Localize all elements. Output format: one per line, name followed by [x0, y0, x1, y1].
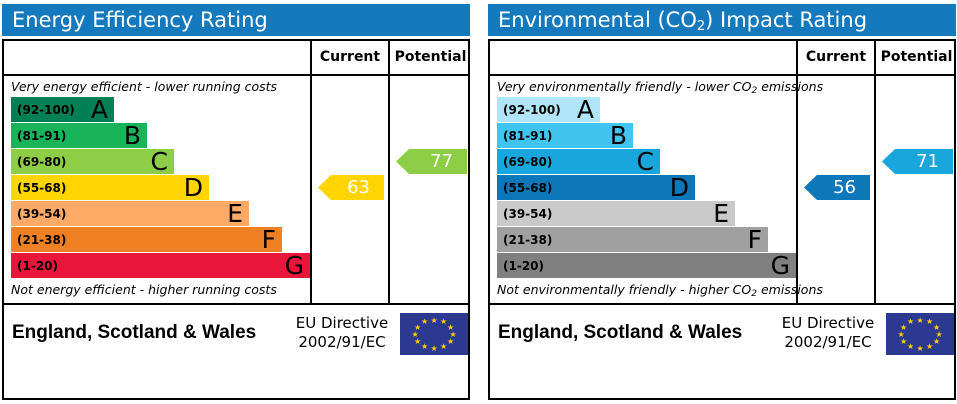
eu-flag-star: ★ — [421, 318, 428, 325]
eu-flag-star: ★ — [900, 324, 907, 331]
footer-directive-label: EU Directive 2002/91/EC — [773, 314, 883, 352]
chart-footer-environmental: England, Scotland & Wales EU Directive 2… — [490, 303, 954, 398]
footer-directive-line1: EU Directive — [287, 314, 397, 333]
energy-efficiency-rating-chart: Energy Efficiency Rating Current Potenti… — [0, 0, 471, 404]
band-range-f: (21-38) — [503, 227, 552, 252]
eu-flag-star: ★ — [440, 343, 447, 350]
caption-top-energy: Very energy efficient - lower running co… — [4, 76, 310, 97]
band-bar-b: (81-91) B — [497, 123, 633, 148]
chart-title-text: Environmental (CO2) Impact Rating — [498, 8, 867, 32]
footer-region-label: England, Scotland & Wales — [498, 305, 742, 360]
potential-rating-arrow-energy: 77 — [396, 149, 467, 174]
band-bar-b: (81-91) B — [11, 123, 147, 148]
band-row: (81-91) B — [4, 123, 310, 149]
band-bar-c: (69-80) C — [497, 149, 660, 174]
footer-region-label: England, Scotland & Wales — [12, 305, 256, 360]
eu-flag-icon: ★★★★★★★★★★★★ — [400, 313, 468, 355]
band-letter-d: D — [184, 173, 203, 200]
band-row: (1-20) G — [4, 253, 310, 279]
band-row: (69-80) C — [490, 149, 796, 175]
chart-footer-energy: England, Scotland & Wales EU Directive 2… — [4, 303, 468, 398]
caption-bottom-environmental: Not environmentally friendly - higher CO… — [490, 279, 796, 300]
header-current: Current — [798, 41, 874, 74]
band-letter-f: F — [262, 225, 276, 252]
band-letter-b: B — [610, 121, 627, 148]
band-letter-g: G — [771, 251, 790, 278]
column-divider-potential — [388, 41, 390, 303]
band-range-a: (92-100) — [503, 97, 561, 122]
chart-title-text: Energy Efficiency Rating — [12, 8, 268, 32]
footer-directive-line2: 2002/91/EC — [287, 333, 397, 352]
eu-flag-star: ★ — [917, 317, 924, 324]
band-range-b: (81-91) — [17, 123, 66, 148]
band-bar-d: (55-68) D — [11, 175, 209, 200]
header-potential: Potential — [876, 41, 957, 74]
chart-title-energy: Energy Efficiency Rating — [2, 4, 470, 36]
band-bar-g: (1-20) G — [11, 253, 310, 278]
eu-flag-star: ★ — [412, 331, 419, 338]
column-divider-current — [310, 41, 312, 303]
chart-frame-environmental: Current Potential Very environmentally f… — [488, 39, 956, 400]
potential-rating-arrow-environmental: 71 — [882, 149, 953, 174]
header-potential: Potential — [390, 41, 471, 74]
eu-flag-star: ★ — [907, 318, 914, 325]
band-letter-c: C — [637, 147, 654, 174]
band-row: (39-54) E — [490, 201, 796, 227]
eu-flag-star: ★ — [440, 318, 447, 325]
band-range-g: (1-20) — [503, 253, 544, 278]
band-range-d: (55-68) — [17, 175, 66, 200]
band-bar-e: (39-54) E — [497, 201, 735, 226]
table-header-row: Current Potential — [4, 41, 468, 76]
band-row: (21-38) F — [490, 227, 796, 253]
eu-flag-star: ★ — [898, 331, 905, 338]
band-row: (21-38) F — [4, 227, 310, 253]
band-bar-g: (1-20) G — [497, 253, 796, 278]
caption-top-environmental: Very environmentally friendly - lower CO… — [490, 76, 796, 97]
band-row: (69-80) C — [4, 149, 310, 175]
band-range-c: (69-80) — [503, 149, 552, 174]
eu-flag-star: ★ — [933, 338, 940, 345]
band-row: (92-100) A — [490, 97, 796, 123]
band-range-a: (92-100) — [17, 97, 75, 122]
band-letter-e: E — [227, 199, 243, 226]
chart-frame-energy: Current Potential Very energy efficient … — [2, 39, 470, 400]
band-row: (39-54) E — [4, 201, 310, 227]
band-bar-c: (69-80) C — [11, 149, 174, 174]
band-bar-d: (55-68) D — [497, 175, 695, 200]
band-list-environmental: (92-100) A (81-91) B (69-80) C — [490, 97, 796, 279]
band-letter-a: A — [91, 95, 108, 122]
eu-flag-star: ★ — [907, 343, 914, 350]
eu-flag-icon: ★★★★★★★★★★★★ — [886, 313, 954, 355]
band-letter-f: F — [748, 225, 762, 252]
band-letter-a: A — [577, 95, 594, 122]
eu-flag-star: ★ — [414, 338, 421, 345]
band-range-b: (81-91) — [503, 123, 552, 148]
band-letter-d: D — [670, 173, 689, 200]
band-row: (55-68) D — [490, 175, 796, 201]
eu-flag-star: ★ — [447, 338, 454, 345]
band-letter-c: C — [151, 147, 168, 174]
eu-flag-star: ★ — [917, 345, 924, 352]
current-rating-arrow-energy: 63 — [318, 175, 384, 200]
band-bar-f: (21-38) F — [11, 227, 282, 252]
band-range-g: (1-20) — [17, 253, 58, 278]
eu-flag-star: ★ — [900, 338, 907, 345]
header-current: Current — [312, 41, 388, 74]
epc-charts-page: Energy Efficiency Rating Current Potenti… — [0, 0, 957, 404]
band-row: (55-68) D — [4, 175, 310, 201]
band-row: (1-20) G — [490, 253, 796, 279]
band-letter-e: E — [713, 199, 729, 226]
band-letter-g: G — [285, 251, 304, 278]
caption-bottom-energy: Not energy efficient - higher running co… — [4, 279, 310, 300]
band-bar-a: (92-100) A — [497, 97, 600, 122]
current-rating-arrow-environmental: 56 — [804, 175, 870, 200]
eu-flag-star: ★ — [926, 343, 933, 350]
band-bar-f: (21-38) F — [497, 227, 768, 252]
eu-flag-star: ★ — [431, 317, 438, 324]
environmental-impact-rating-chart: Environmental (CO2) Impact Rating Curren… — [486, 0, 957, 404]
band-range-f: (21-38) — [17, 227, 66, 252]
footer-directive-line1: EU Directive — [773, 314, 883, 333]
chart-title-environmental: Environmental (CO2) Impact Rating — [488, 4, 956, 36]
band-bar-a: (92-100) A — [11, 97, 114, 122]
band-row: (92-100) A — [4, 97, 310, 123]
band-range-e: (39-54) — [503, 201, 552, 226]
band-row: (81-91) B — [490, 123, 796, 149]
eu-flag-star: ★ — [414, 324, 421, 331]
eu-flag-star: ★ — [926, 318, 933, 325]
eu-flag-star: ★ — [431, 345, 438, 352]
band-range-e: (39-54) — [17, 201, 66, 226]
band-range-d: (55-68) — [503, 175, 552, 200]
footer-directive-line2: 2002/91/EC — [773, 333, 883, 352]
band-list-energy: (92-100) A (81-91) B (69-80) C — [4, 97, 310, 279]
band-range-c: (69-80) — [17, 149, 66, 174]
table-header-row: Current Potential — [490, 41, 954, 76]
footer-directive-label: EU Directive 2002/91/EC — [287, 314, 397, 352]
band-bar-e: (39-54) E — [11, 201, 249, 226]
band-letter-b: B — [124, 121, 141, 148]
eu-flag-star: ★ — [421, 343, 428, 350]
column-divider-potential — [874, 41, 876, 303]
